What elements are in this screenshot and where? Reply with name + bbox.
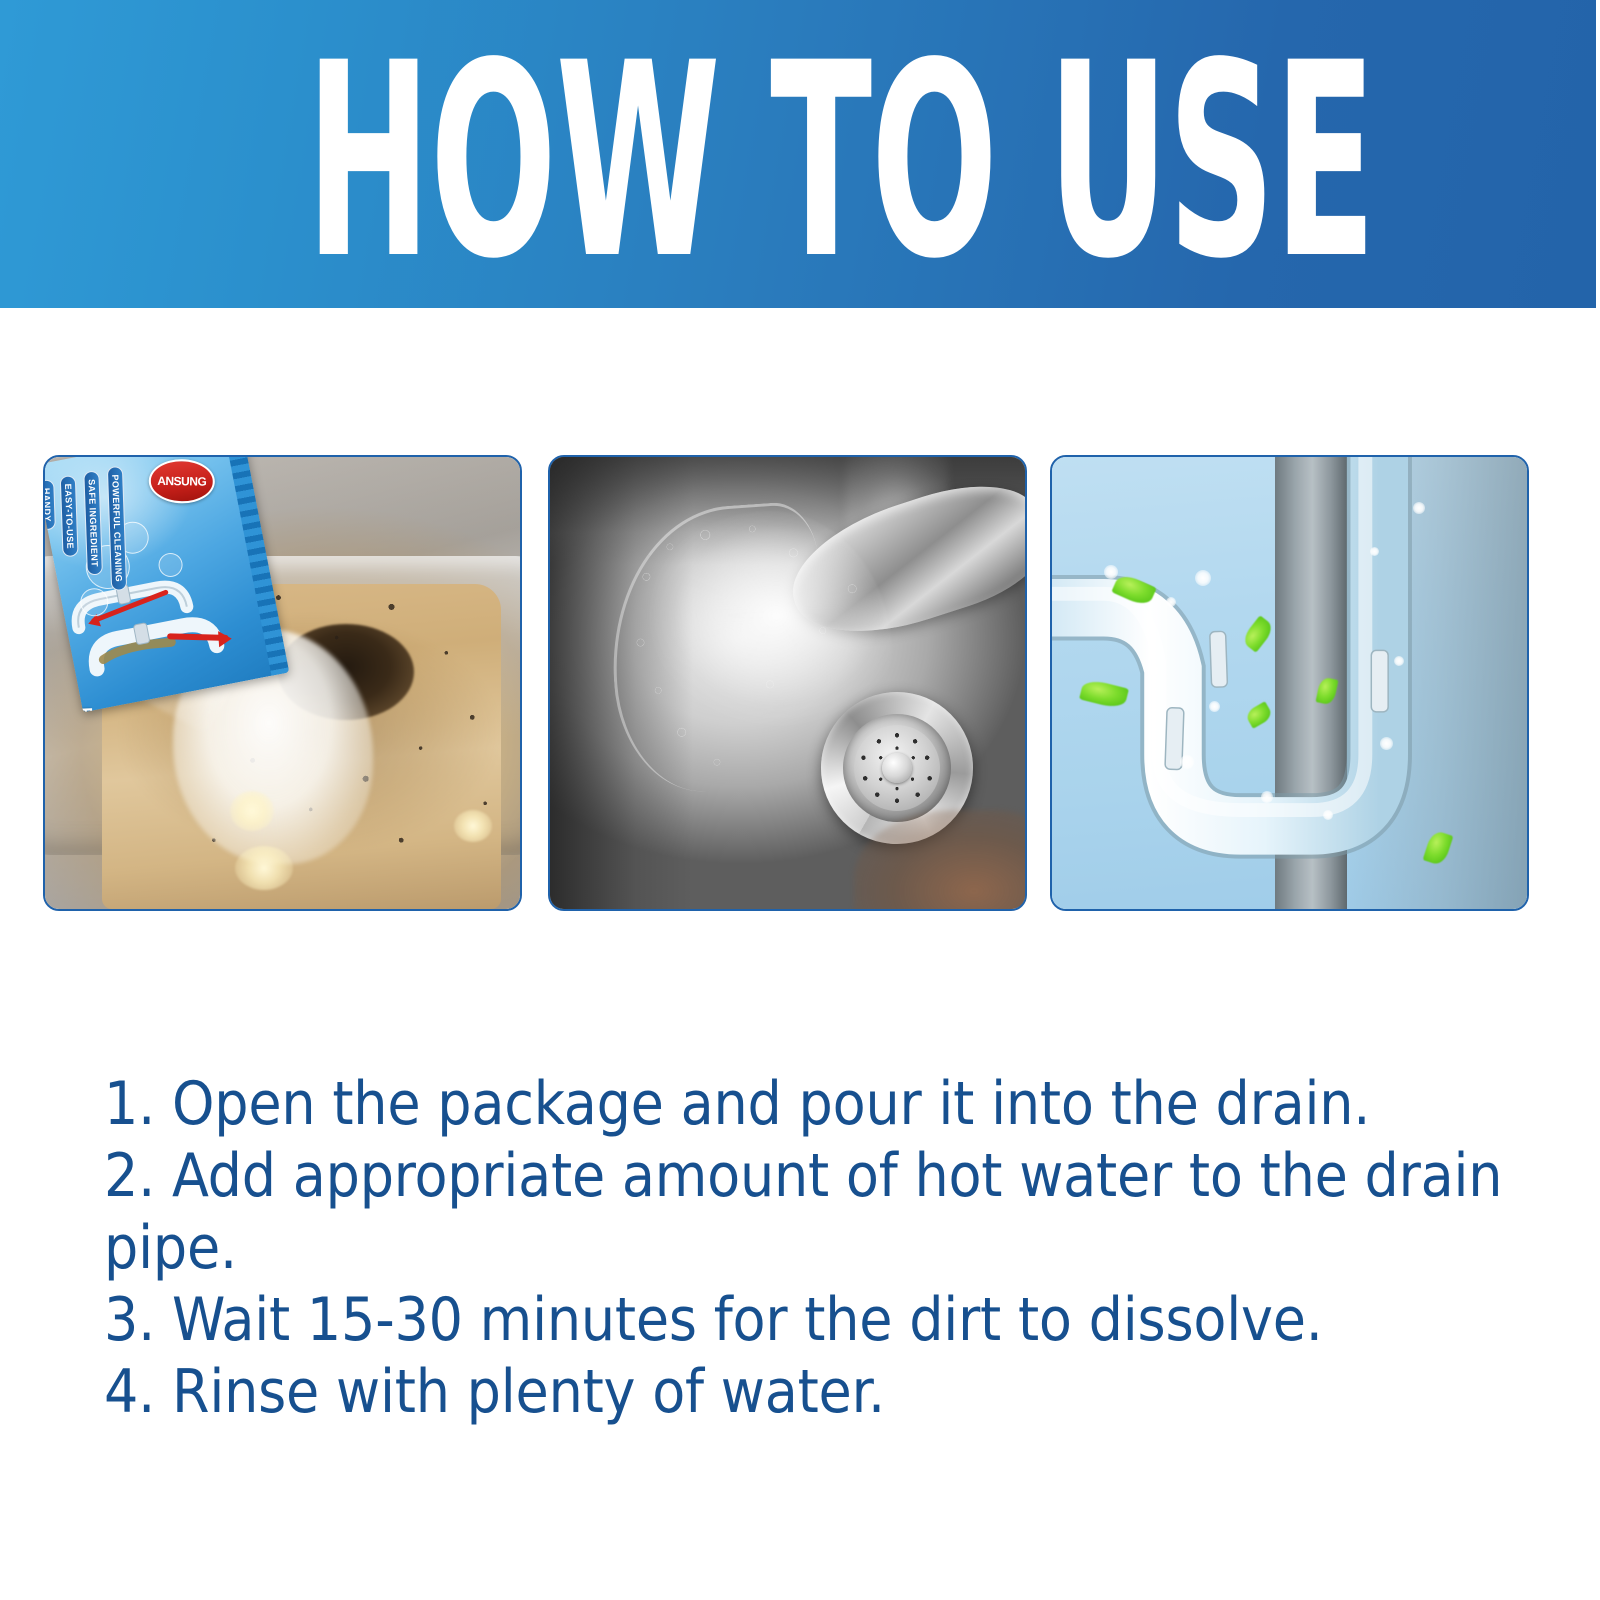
panel-pour-powder-image: POWERFUL CLEANING SAFE INGREDIENT EASY-T… <box>45 457 520 909</box>
sparkle-icon <box>1147 665 1159 677</box>
brand-logo-text: ANSUNG <box>150 461 213 502</box>
image-panel-row: POWERFUL CLEANING SAFE INGREDIENT EASY-T… <box>0 455 1600 915</box>
sachet-body: POWERFUL CLEANING SAFE INGREDIENT EASY-T… <box>45 457 289 712</box>
panel-hot-water <box>548 455 1027 911</box>
sparkle-icon <box>1195 570 1211 586</box>
page-title: HOW TO USE <box>306 62 1375 262</box>
panel-hot-water-image <box>550 457 1025 909</box>
panel-clean-pipe-image <box>1052 457 1527 909</box>
brand-logo: ANSUNG <box>148 459 215 504</box>
instruction-step-3: 3. Wait 15-30 minutes for the dirt to di… <box>104 1284 1524 1356</box>
sachet-claim-badge: POWERFUL CLEANING <box>107 466 127 590</box>
product-sachet: POWERFUL CLEANING SAFE INGREDIENT EASY-T… <box>45 457 289 712</box>
instruction-list: 1. Open the package and pour it into the… <box>104 1068 1524 1428</box>
sparkle-icon <box>1380 737 1393 750</box>
sachet-claim-badge: EASY-TO-USE <box>60 475 79 557</box>
light-reflection <box>454 810 492 842</box>
p-trap-pipe-svg <box>1052 457 1527 909</box>
instruction-step-2: 2. Add appropriate amount of hot water t… <box>104 1140 1524 1284</box>
sparkle-icon <box>1394 656 1404 666</box>
sparkle-icon <box>1323 810 1333 820</box>
panel-clean-pipe <box>1050 455 1529 911</box>
strainer-hub <box>882 753 912 783</box>
sachet-claim-badge: SAFE INGREDIENT <box>83 471 103 576</box>
instruction-step-4: 4. Rinse with plenty of water. <box>104 1356 1524 1428</box>
instruction-step-1: 1. Open the package and pour it into the… <box>104 1068 1524 1140</box>
panel-pour-powder: POWERFUL CLEANING SAFE INGREDIENT EASY-T… <box>43 455 522 911</box>
header-banner: HOW TO USE <box>0 0 1596 308</box>
sachet-claim-badge: HANDY <box>45 480 56 531</box>
light-reflection <box>235 846 293 890</box>
sparkle-icon <box>1209 701 1220 712</box>
